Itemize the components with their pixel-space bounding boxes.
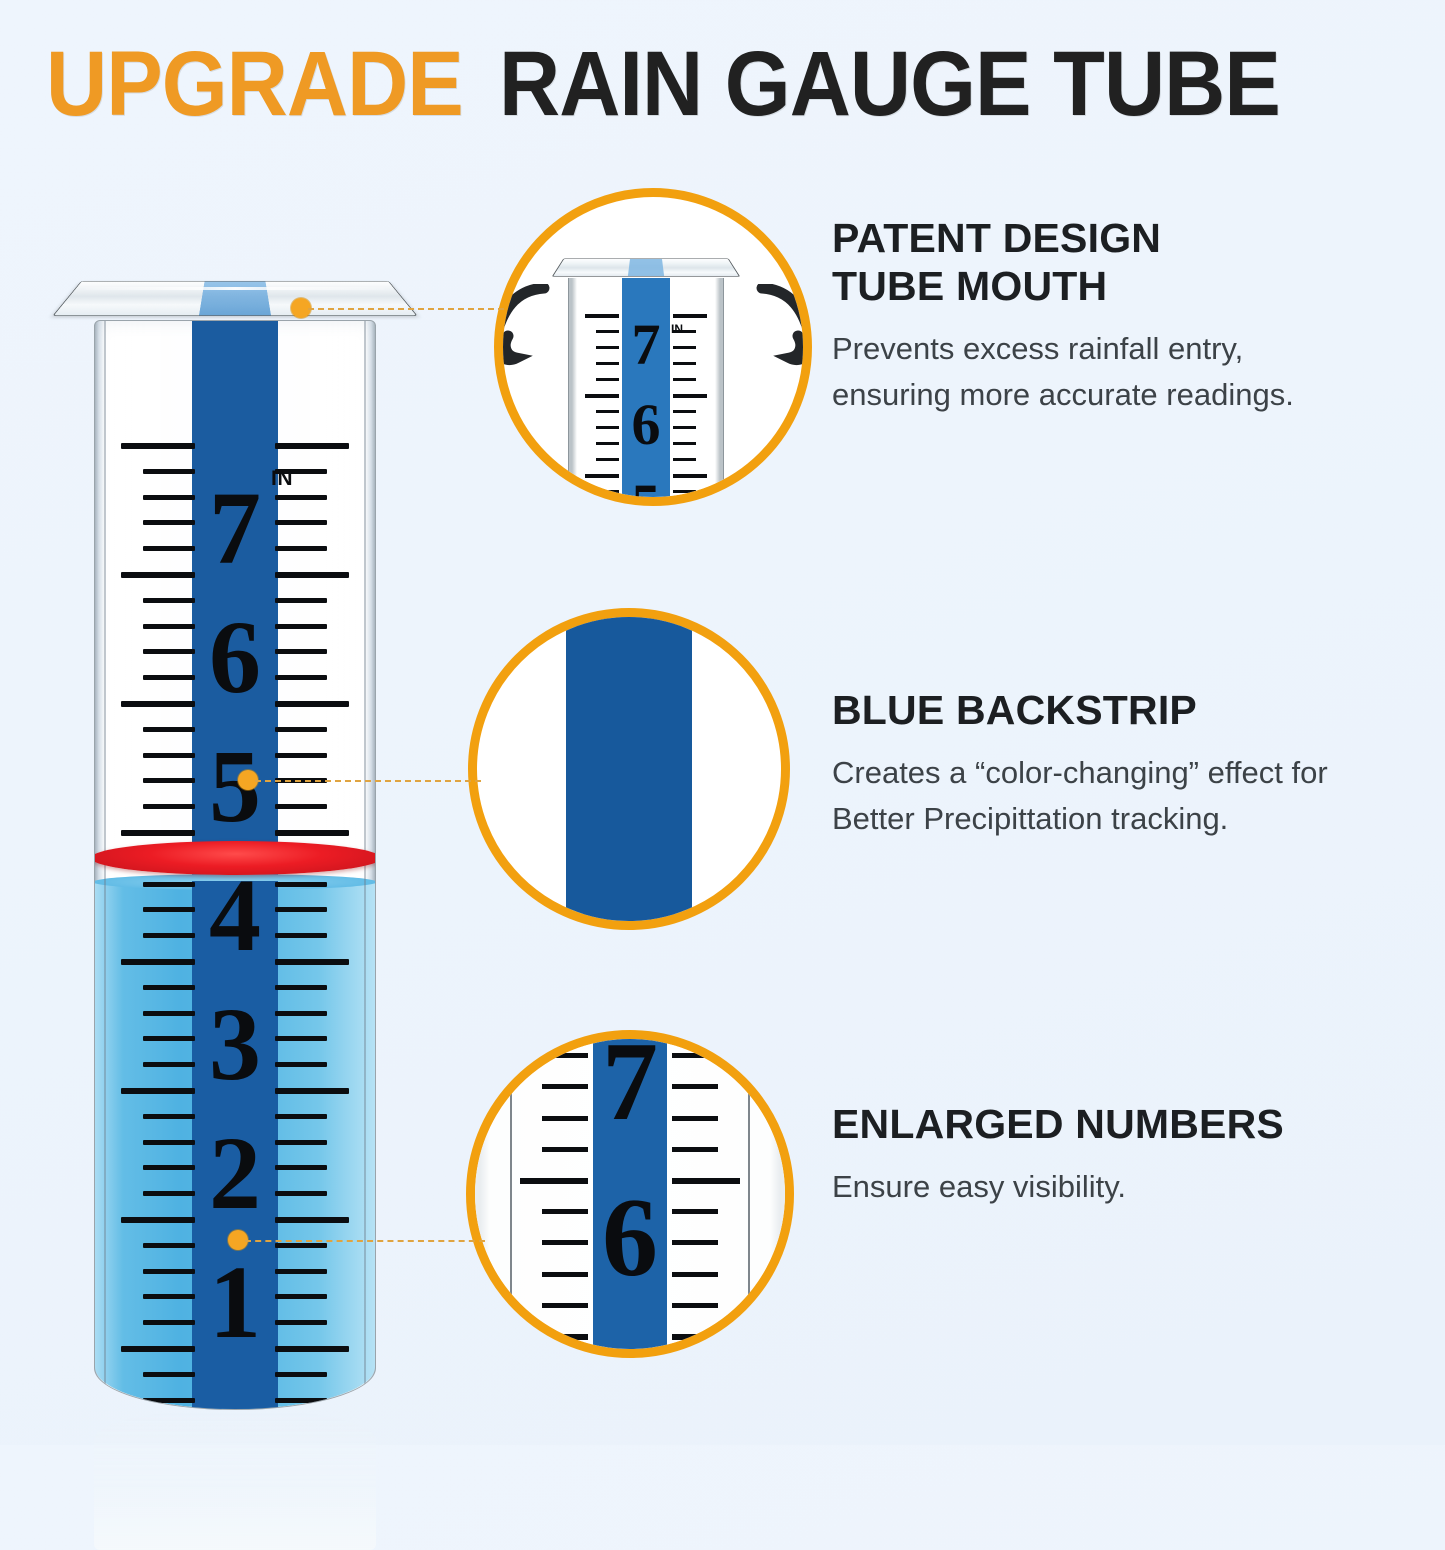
callout-circle-tube-mouth: 765 IN xyxy=(494,188,812,506)
red-float-indicator xyxy=(94,841,376,875)
feature-1-heading: PATENT DESIGN TUBE MOUTH xyxy=(832,214,1432,310)
mini-unit-label-in: IN xyxy=(671,322,683,336)
scale-ticks-right xyxy=(275,443,349,1349)
magnified-number-7: 7 xyxy=(602,1030,658,1138)
feature-blue-backstrip: BLUE BACKSTRIP Creates a “color-changing… xyxy=(832,686,1432,842)
feature-3-body: Ensure easy visibility. xyxy=(832,1164,1432,1210)
feature-2-body: Creates a “color-changing” effect for Be… xyxy=(832,750,1432,842)
tube-mouth-cap xyxy=(52,281,417,316)
tube-reflection xyxy=(94,1410,376,1550)
unit-label-in: IN xyxy=(271,467,293,491)
scale-number-3: 3 xyxy=(209,993,261,1097)
feature-1-heading-line1: PATENT DESIGN xyxy=(832,215,1161,261)
infographic-canvas: UPGRADE RAIN GAUGE TUBE 7654321 IN xyxy=(0,0,1445,1445)
callout-line-numbers xyxy=(245,1240,485,1242)
feature-3-heading: ENLARGED NUMBERS xyxy=(832,1100,1432,1148)
panel-edge-right xyxy=(748,1030,750,1358)
scale-number-7: 7 xyxy=(209,477,261,581)
mount-bracket-left-icon xyxy=(494,284,550,400)
mini-scale-left xyxy=(585,278,619,506)
feature-1-heading-line2: TUBE MOUTH xyxy=(832,263,1107,309)
scale-number-1: 1 xyxy=(209,1251,261,1355)
magnified-scale-panel: 765 IN xyxy=(466,1030,794,1358)
callout-circle-blue-backstrip xyxy=(468,608,790,930)
callout-circle-enlarged-numbers: 765 IN xyxy=(466,1030,794,1358)
magnified-ticks-left xyxy=(520,1030,588,1358)
magnified-ticks-right xyxy=(672,1030,740,1358)
page-title: UPGRADE RAIN GAUGE TUBE xyxy=(46,34,1416,134)
mini-number-5: 5 xyxy=(632,476,661,506)
scale-number-4: 4 xyxy=(209,864,261,968)
mini-scale-right xyxy=(673,278,707,506)
title-highlight: UPGRADE xyxy=(46,34,463,134)
cap-gloss-highlight xyxy=(84,287,385,290)
feature-enlarged-numbers: ENLARGED NUMBERS Ensure easy visibility. xyxy=(832,1100,1432,1210)
mini-cap-blue-stripe xyxy=(627,259,664,276)
magnified-number-5: 5 xyxy=(602,1338,658,1358)
mini-tube-cylinder: 765 IN xyxy=(568,278,724,506)
feature-3-heading-line1: ENLARGED NUMBERS xyxy=(832,1101,1284,1147)
title-rest: RAIN GAUGE TUBE xyxy=(499,34,1280,134)
mount-bracket-right-icon xyxy=(756,284,812,400)
feature-2-heading: BLUE BACKSTRIP xyxy=(832,686,1432,734)
callout-line-tube-mouth xyxy=(308,308,504,310)
feature-1-body-line1: Prevents excess rainfall entry, xyxy=(832,331,1243,366)
mini-number-6: 6 xyxy=(632,396,661,454)
mini-number-7: 7 xyxy=(632,316,661,374)
feature-2-body-line2: Better Precipittation tracking. xyxy=(832,801,1228,836)
magnified-unit-label-in: IN xyxy=(680,1030,700,1051)
callout-line-backstrip xyxy=(255,780,481,782)
feature-3-body-line1: Ensure easy visibility. xyxy=(832,1169,1126,1204)
feature-2-body-line1: Creates a “color-changing” effect for xyxy=(832,755,1328,790)
magnified-blue-backstrip xyxy=(566,608,692,930)
feature-patent-design: PATENT DESIGN TUBE MOUTH Prevents excess… xyxy=(832,214,1432,418)
scale-number-6: 6 xyxy=(209,606,261,710)
mini-tube-cap xyxy=(552,259,740,277)
scale-ticks-left xyxy=(121,443,195,1349)
magnified-number-6: 6 xyxy=(602,1182,658,1294)
feature-2-heading-line1: BLUE BACKSTRIP xyxy=(832,687,1197,733)
feature-1-body: Prevents excess rainfall entry, ensuring… xyxy=(832,326,1432,418)
panel-edge-left xyxy=(510,1030,512,1358)
scale-number-2: 2 xyxy=(209,1122,261,1226)
rain-gauge-tube: 7654321 IN xyxy=(60,258,410,1438)
feature-1-body-line2: ensuring more accurate readings. xyxy=(832,377,1294,412)
